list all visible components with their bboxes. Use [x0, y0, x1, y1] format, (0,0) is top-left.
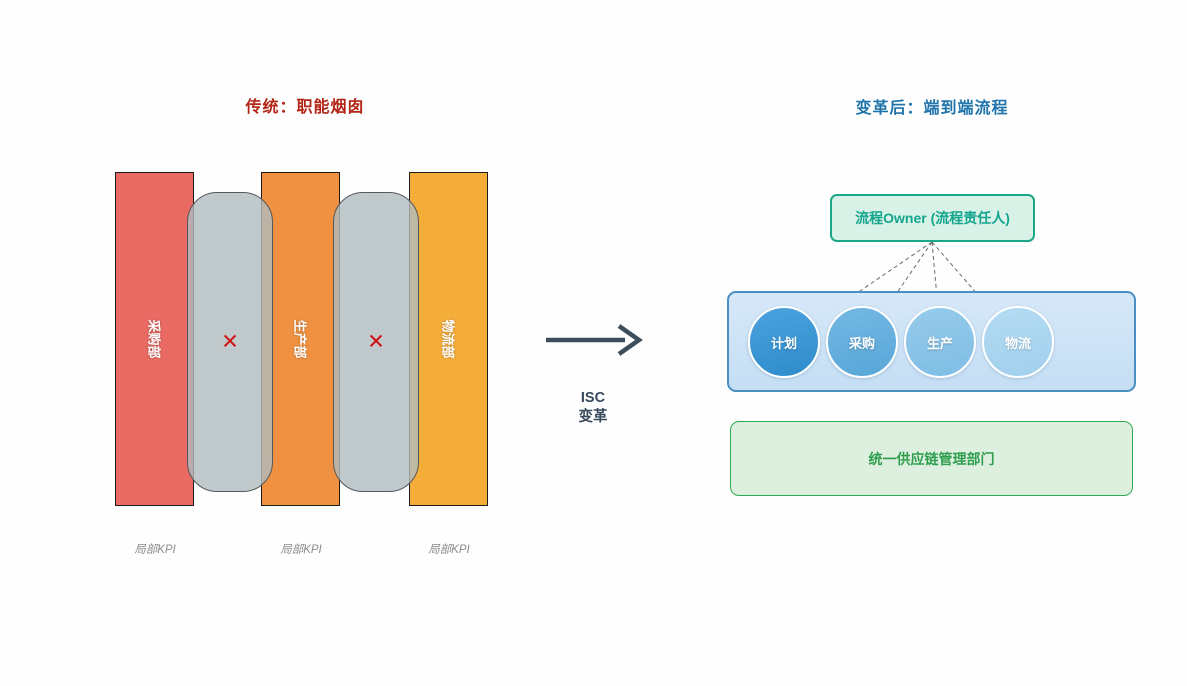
kpi-label-logistics: 局部KPI — [389, 541, 509, 557]
silo-bar-label: 生产部 — [291, 319, 310, 358]
process-step-logistics[interactable]: 物流 — [982, 306, 1054, 378]
right-section-title: 变革后：端到端流程 — [757, 94, 1107, 118]
end-to-end-process-panel: 计划 采购 生产 物流 — [727, 291, 1136, 392]
silo-bar-label: 物流部 — [439, 319, 458, 358]
silo-barrier-1: ✕ — [187, 192, 273, 492]
kpi-label-procurement: 局部KPI — [95, 541, 215, 557]
kpi-label-production: 局部KPI — [241, 541, 361, 557]
transition-caption-line1: ISC — [538, 389, 648, 408]
cross-icon: ✕ — [367, 332, 385, 353]
process-owner-box[interactable]: 流程Owner (流程责任人) — [830, 194, 1035, 242]
transition-caption: ISC 变革 — [538, 389, 648, 427]
silo-bar-logistics: 物流部 — [409, 172, 488, 506]
process-step-procurement[interactable]: 采购 — [826, 306, 898, 378]
silo-bar-label: 采购部 — [145, 319, 164, 358]
cross-icon: ✕ — [221, 332, 239, 353]
process-step-production[interactable]: 生产 — [904, 306, 976, 378]
transition-caption-line2: 变革 — [538, 408, 648, 427]
unified-supply-chain-department-box[interactable]: 统一供应链管理部门 — [730, 421, 1133, 496]
diagram-canvas: 传统：职能烟囱 变革后：端到端流程 采购部 生产部 物流部 ✕ ✕ 局部KPI … — [0, 0, 1187, 686]
functional-silos-group: 采购部 生产部 物流部 ✕ ✕ 局部KPI 局部KPI 局部KPI — [0, 0, 560, 600]
process-step-plan[interactable]: 计划 — [748, 306, 820, 378]
silo-barrier-2: ✕ — [333, 192, 419, 492]
silo-bar-procurement: 采购部 — [115, 172, 194, 506]
transition-arrow-icon — [543, 322, 643, 358]
